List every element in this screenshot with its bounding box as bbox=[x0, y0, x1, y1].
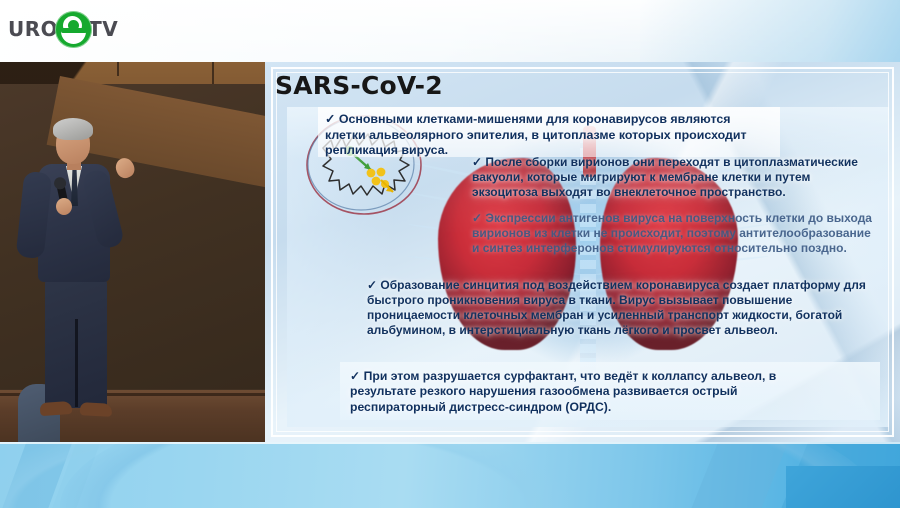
person-shoe-left bbox=[40, 401, 73, 416]
bullet-3-text: Экспрессии антигенов вируса на поверхнос… bbox=[472, 211, 872, 255]
logo-suffix-text: TV bbox=[88, 19, 118, 39]
footer-swoosh-2 bbox=[60, 442, 880, 508]
bullet-4: ✓ Образование синцития под воздействием … bbox=[367, 278, 875, 338]
wall-seam-1 bbox=[117, 62, 119, 76]
person-shoe-right bbox=[80, 402, 113, 417]
bullet-2-text: После сборки вирионов они переходят в ци… bbox=[472, 155, 858, 199]
bullet-5-marker: ✓ bbox=[350, 369, 360, 383]
bullet-2: ✓ После сборки вирионов они переходят в … bbox=[472, 155, 876, 200]
slide-title-text: SARS-CoV-2 bbox=[275, 71, 443, 100]
urotv-logo[interactable]: URO TV bbox=[8, 10, 118, 48]
bullet-4-text: Образование синцития под воздействием ко… bbox=[367, 278, 866, 337]
screenshot-root: URO TV bbox=[0, 0, 900, 508]
footer-top-line bbox=[0, 442, 900, 444]
bullet-1: ✓ Основными клетками-мишенями для корона… bbox=[325, 112, 773, 159]
conference-speaker-video[interactable] bbox=[0, 62, 265, 442]
person-hand-right bbox=[113, 155, 137, 180]
bullet-3: ✓ Экспрессии антигенов вируса на поверхн… bbox=[472, 211, 876, 256]
footer-corner-block bbox=[786, 466, 900, 508]
bullet-5: ✓ При этом разрушается сурфактант, что в… bbox=[350, 369, 870, 415]
page-title: SARS-CoV-2 bbox=[275, 72, 890, 106]
logo-prefix-text: URO bbox=[8, 19, 58, 39]
person-hair bbox=[53, 118, 93, 140]
header-sheen-right bbox=[640, 0, 900, 62]
bullet-3-marker: ✓ bbox=[472, 211, 482, 225]
bullet-1-text: Основными клетками-мишенями для коронави… bbox=[325, 112, 747, 157]
bullet-5-text: При этом разрушается сурфактант, что вед… bbox=[350, 369, 776, 414]
bullet-2-marker: ✓ bbox=[472, 155, 482, 169]
person-silhouette-icon bbox=[28, 114, 138, 434]
person-hand-left bbox=[56, 198, 72, 215]
uro-e-logo-icon bbox=[55, 11, 92, 48]
person-leg-split bbox=[75, 319, 78, 407]
logo-mark-bar bbox=[61, 28, 87, 33]
bullet-1-marker: ✓ bbox=[325, 112, 335, 126]
bullet-4-marker: ✓ bbox=[367, 278, 377, 292]
decorative-blue-footer-band bbox=[0, 442, 900, 508]
